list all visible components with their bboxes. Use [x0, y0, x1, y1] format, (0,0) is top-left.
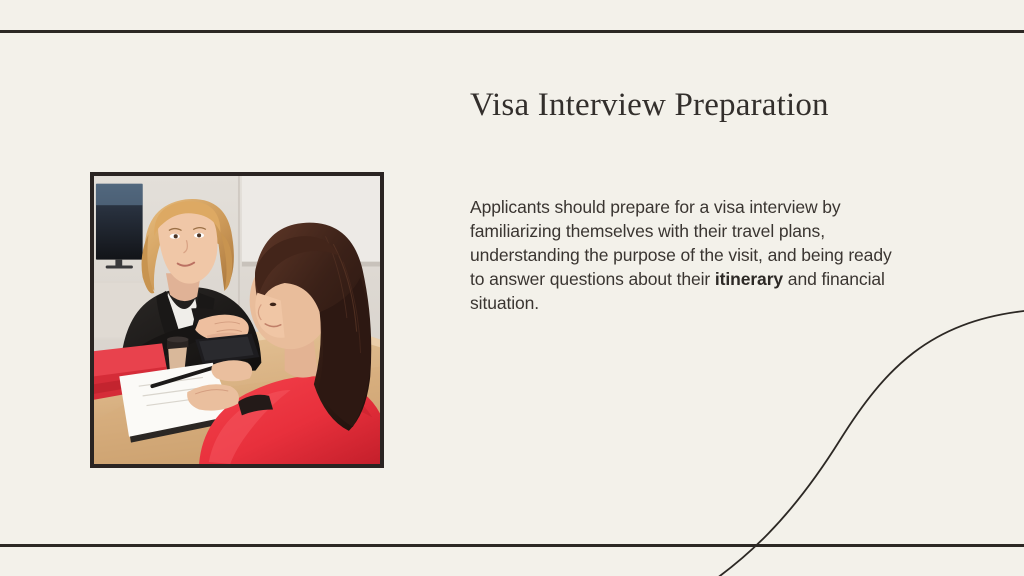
meeting-photo [94, 176, 380, 464]
page-title: Visa Interview Preparation [470, 85, 900, 125]
text-column: Visa Interview Preparation Applicants sh… [470, 85, 900, 125]
bottom-divider-rule [0, 544, 1024, 547]
top-divider-rule [0, 30, 1024, 33]
body-paragraph: Applicants should prepare for a visa int… [470, 195, 895, 315]
meeting-photo-frame [90, 172, 384, 468]
slide-canvas: Visa Interview Preparation Applicants sh… [0, 0, 1024, 576]
body-text-emphasis: itinerary [715, 269, 783, 289]
